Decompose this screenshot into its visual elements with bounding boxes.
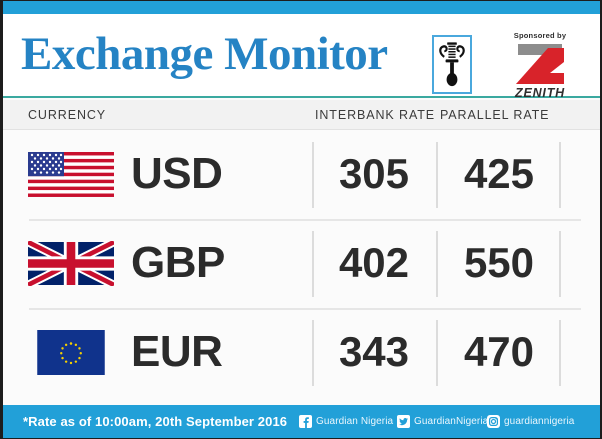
column-divider xyxy=(312,231,314,297)
column-divider xyxy=(436,320,438,386)
column-divider xyxy=(559,320,561,386)
social-link-twitter[interactable]: GuardianNigeria xyxy=(397,415,488,428)
zenith-z-icon xyxy=(512,42,568,86)
facebook-handle: Guardian Nigeria xyxy=(316,415,393,428)
guardian-lyre-logo xyxy=(432,35,472,94)
social-link-instagram[interactable]: guardiannigeria xyxy=(487,415,574,428)
lyre-icon xyxy=(438,39,466,91)
column-divider xyxy=(559,142,561,208)
social-link-facebook[interactable]: Guardian Nigeria xyxy=(299,415,393,428)
eu-flag-icon xyxy=(28,330,114,375)
column-divider xyxy=(436,231,438,297)
parallel-rate-value: 425 xyxy=(440,144,558,204)
table-row: GBP 402 550 xyxy=(3,219,602,308)
parallel-rate-value: 550 xyxy=(440,233,558,293)
currency-code: USD xyxy=(131,144,222,204)
instagram-icon xyxy=(487,415,500,428)
interbank-rate-value: 343 xyxy=(315,322,433,382)
us-flag-icon xyxy=(28,152,114,197)
sponsor-block: Sponsored by ZENITH xyxy=(499,28,581,104)
interbank-rate-value: 305 xyxy=(315,144,433,204)
column-divider xyxy=(559,231,561,297)
card-footer: *Rate as of 10:00am, 20th September 2016… xyxy=(3,405,602,438)
column-divider xyxy=(436,142,438,208)
sponsor-name: ZENITH xyxy=(499,86,581,100)
parallel-rate-value: 470 xyxy=(440,322,558,382)
table-row: USD 305 425 xyxy=(3,130,602,219)
column-divider xyxy=(312,320,314,386)
column-header-currency: CURRENCY xyxy=(28,108,106,122)
facebook-icon xyxy=(299,415,312,428)
table-column-headers: CURRENCY INTERBANK RATE PARALLEL RATE xyxy=(3,100,602,130)
column-divider xyxy=(312,142,314,208)
interbank-rate-value: 402 xyxy=(315,233,433,293)
column-header-parallel-rate: PARALLEL RATE xyxy=(440,108,549,122)
twitter-handle: GuardianNigeria xyxy=(414,415,488,428)
instagram-handle: guardiannigeria xyxy=(504,415,574,428)
currency-code: GBP xyxy=(131,233,225,293)
uk-flag-icon xyxy=(28,241,114,286)
sponsor-label: Sponsored by xyxy=(499,30,581,41)
column-header-interbank-rate: INTERBANK RATE xyxy=(315,108,435,122)
twitter-icon xyxy=(397,415,410,428)
exchange-monitor-card: Exchange Monitor xyxy=(0,0,602,439)
page-title: Exchange Monitor xyxy=(21,25,388,83)
top-accent-bar xyxy=(3,1,602,14)
card-header: Exchange Monitor xyxy=(3,14,602,98)
table-body: USD 305 425 GBP 402 550 xyxy=(3,130,602,404)
rate-timestamp-note: *Rate as of 10:00am, 20th September 2016 xyxy=(23,414,287,429)
table-row: EUR 343 470 xyxy=(3,308,602,397)
currency-code: EUR xyxy=(131,322,222,382)
